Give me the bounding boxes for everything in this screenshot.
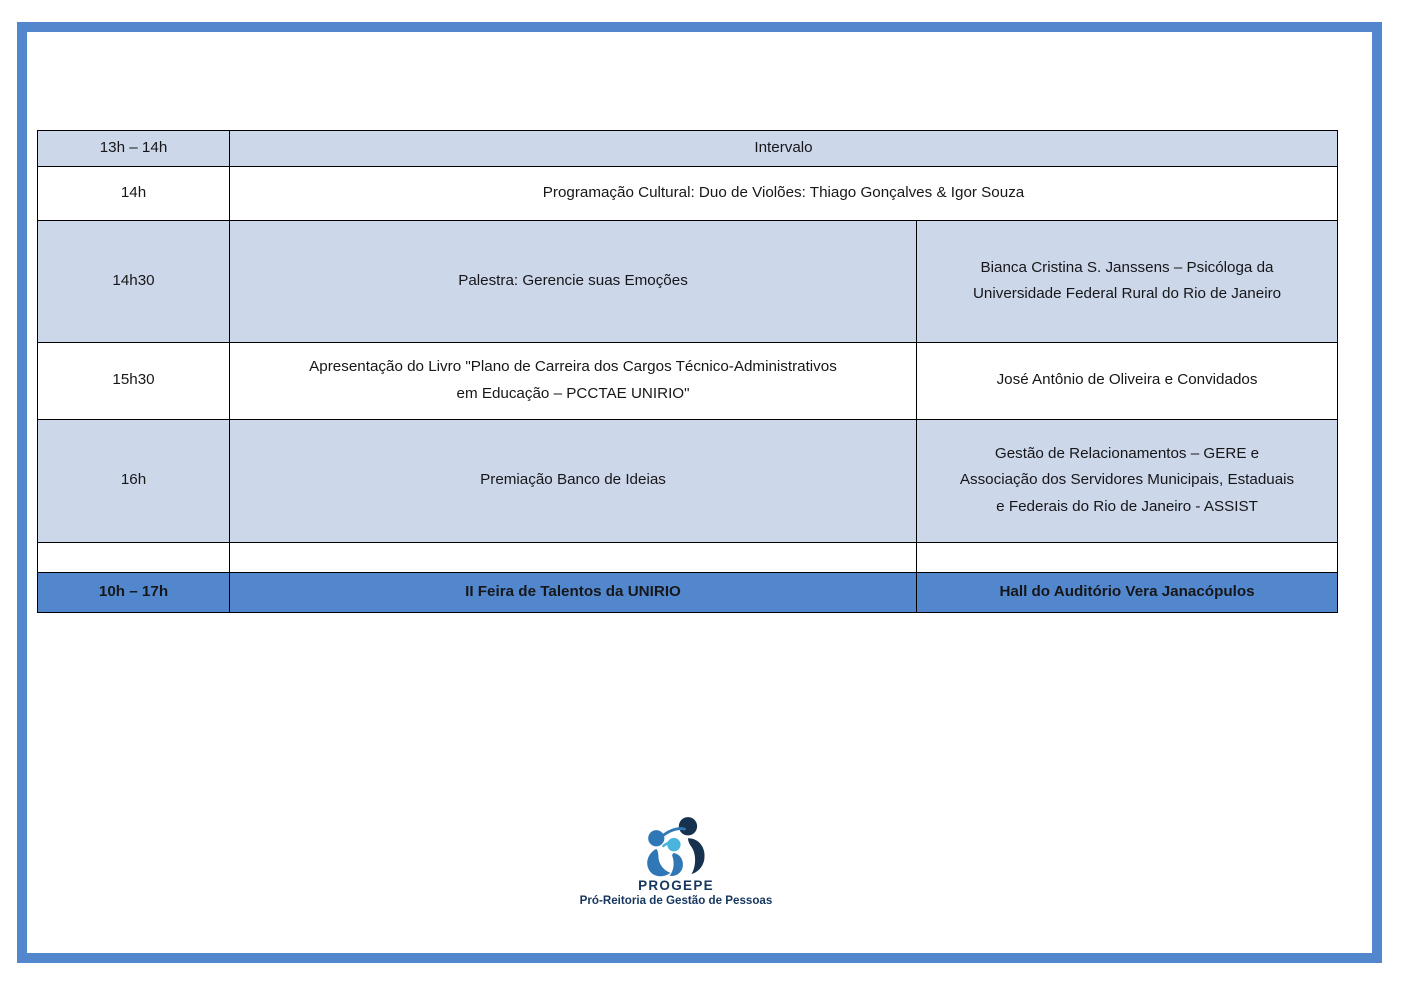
cell-time: 10h – 17h — [38, 572, 230, 612]
logo-subtitle: Pró-Reitoria de Gestão de Pessoas — [565, 894, 787, 907]
cell-time: 13h – 14h — [38, 131, 230, 167]
progepe-logo: PROGEPE Pró-Reitoria de Gestão de Pessoa… — [565, 815, 787, 908]
schedule-table-container: 13h – 14h Intervalo 14h Programação Cult… — [37, 130, 1337, 613]
event-line: em Educação – PCCTAE UNIRIO" — [238, 381, 908, 408]
cell-speaker: José Antônio de Oliveira e Convidados — [917, 342, 1338, 419]
cell-time: 14h30 — [38, 220, 230, 342]
cell-event — [230, 542, 917, 572]
cell-time — [38, 542, 230, 572]
cell-speaker: Bianca Cristina S. Janssens – Psicóloga … — [917, 220, 1338, 342]
table-row: 14h Programação Cultural: Duo de Violões… — [38, 166, 1338, 220]
table-row: 16h Premiação Banco de Ideias Gestão de … — [38, 419, 1338, 542]
logo-title: PROGEPE — [565, 879, 787, 893]
cell-event: Programação Cultural: Duo de Violões: Th… — [230, 166, 1338, 220]
table-row: 15h30 Apresentação do Livro "Plano de Ca… — [38, 342, 1338, 419]
cell-speaker: Gestão de Relacionamentos – GERE e Assoc… — [917, 419, 1338, 542]
table-row: 13h – 14h Intervalo — [38, 131, 1338, 167]
cell-event: Apresentação do Livro "Plano de Carreira… — [230, 342, 917, 419]
speaker-line: Universidade Federal Rural do Rio de Jan… — [925, 281, 1329, 308]
cell-event: Palestra: Gerencie suas Emoções — [230, 220, 917, 342]
cell-event: Intervalo — [230, 131, 1338, 167]
schedule-table: 13h – 14h Intervalo 14h Programação Cult… — [37, 130, 1338, 613]
event-line: Apresentação do Livro "Plano de Carreira… — [238, 354, 908, 381]
speaker-line: José Antônio de Oliveira e Convidados — [925, 367, 1329, 394]
page: 13h – 14h Intervalo 14h Programação Cult… — [0, 0, 1401, 984]
cell-time: 15h30 — [38, 342, 230, 419]
cell-event: Premiação Banco de Ideias — [230, 419, 917, 542]
cell-speaker — [917, 542, 1338, 572]
cell-place: Hall do Auditório Vera Janacópulos — [917, 572, 1338, 612]
cell-event: II Feira de Talentos da UNIRIO — [230, 572, 917, 612]
speaker-line: Bianca Cristina S. Janssens – Psicóloga … — [925, 255, 1329, 282]
speaker-line: Gestão de Relacionamentos – GERE e — [925, 441, 1329, 468]
speaker-line: Associação dos Servidores Municipais, Es… — [925, 467, 1329, 494]
cell-time: 16h — [38, 419, 230, 542]
cell-time: 14h — [38, 166, 230, 220]
speaker-line: e Federais do Rio de Janeiro - ASSIST — [925, 494, 1329, 521]
table-row-highlight: 10h – 17h II Feira de Talentos da UNIRIO… — [38, 572, 1338, 612]
table-row-spacer — [38, 542, 1338, 572]
progepe-people-icon — [640, 815, 712, 877]
table-row: 14h30 Palestra: Gerencie suas Emoções Bi… — [38, 220, 1338, 342]
